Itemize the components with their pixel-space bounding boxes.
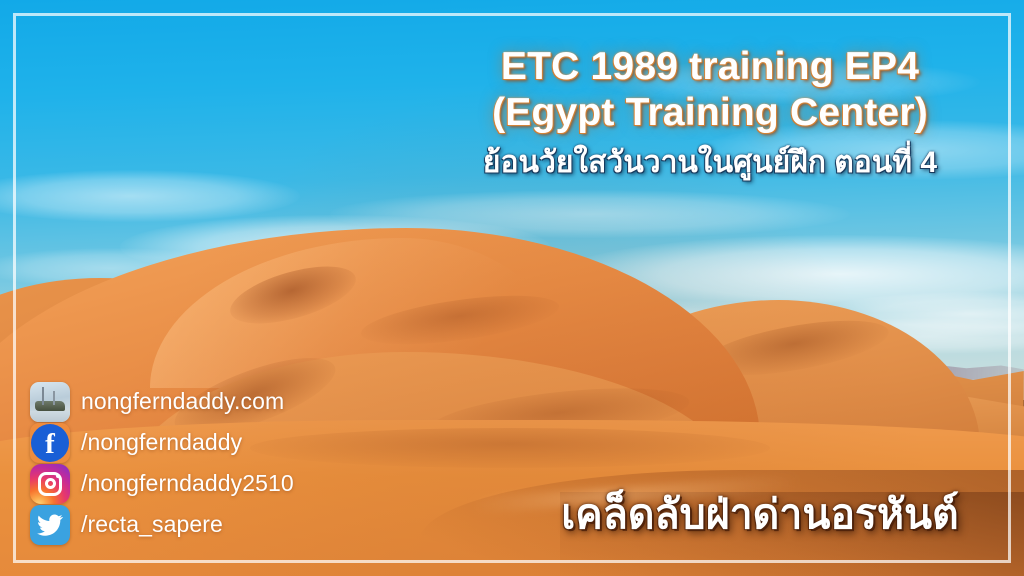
- social-row-facebook[interactable]: f /nongferndaddy: [30, 422, 294, 463]
- social-links-list: nongferndaddy.com f /nongferndaddy /nong…: [30, 381, 294, 545]
- facebook-icon[interactable]: f: [30, 423, 70, 463]
- slide-canvas: ETC 1989 training EP4 (Egypt Training Ce…: [0, 0, 1024, 576]
- social-row-twitter[interactable]: /recta_sapere: [30, 504, 294, 545]
- social-label-facebook: /nongferndaddy: [81, 429, 242, 456]
- title-subtitle: ย้อนวัยใสวันวานในศูนย์ฝึก ตอนที่ 4: [430, 145, 990, 181]
- foreground-shadow: [250, 428, 770, 468]
- social-label-instagram: /nongferndaddy2510: [81, 470, 294, 497]
- title-line-2: (Egypt Training Center): [430, 90, 990, 136]
- bottom-headline: เคล็ดลับฝ่าด่านอรหันต์: [520, 482, 1000, 547]
- title-line-1: ETC 1989 training EP4: [430, 44, 990, 90]
- title-block: ETC 1989 training EP4 (Egypt Training Ce…: [430, 44, 990, 181]
- social-row-website[interactable]: nongferndaddy.com: [30, 381, 294, 422]
- social-row-instagram[interactable]: /nongferndaddy2510: [30, 463, 294, 504]
- twitter-icon[interactable]: [30, 505, 70, 545]
- website-icon[interactable]: [30, 382, 70, 422]
- instagram-icon[interactable]: [30, 464, 70, 504]
- social-label-twitter: /recta_sapere: [81, 511, 223, 538]
- social-label-website: nongferndaddy.com: [81, 388, 284, 415]
